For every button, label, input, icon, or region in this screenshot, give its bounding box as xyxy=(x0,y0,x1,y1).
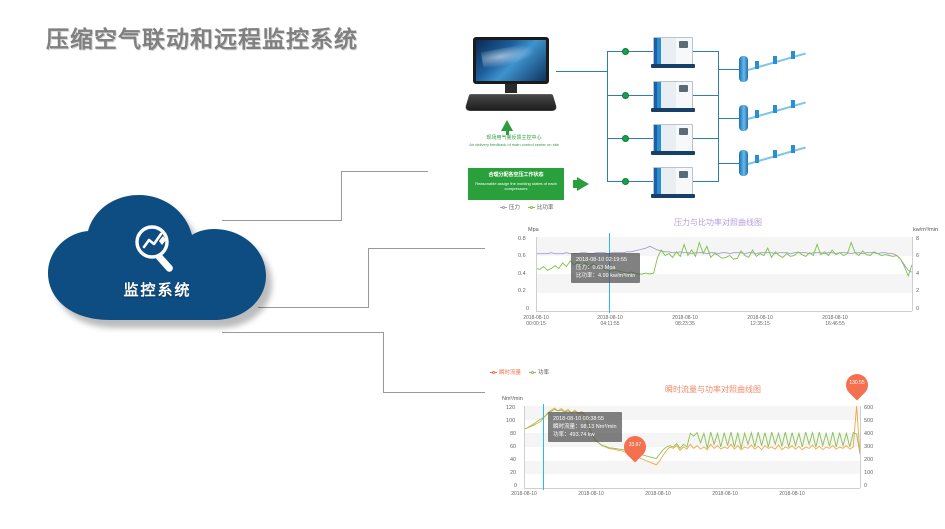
keyboard-icon xyxy=(464,94,557,111)
chart2-y2tick-3: 300 xyxy=(864,444,873,450)
drop-2a xyxy=(755,110,759,118)
working-state-en: Reasonable assign the working states of … xyxy=(468,181,564,192)
chart1-y2tick-4: 0 xyxy=(916,306,919,312)
monitor-screen xyxy=(473,37,549,84)
monitor-icon xyxy=(467,37,555,115)
chart1-tooltip-row-0: 压力：0.63 Mpa xyxy=(576,264,635,272)
chart1-xtick-2: 2018-08-10 08:23:35 xyxy=(659,315,711,327)
chart2-xtick-0: 2018-08-10 xyxy=(496,491,552,497)
chart2-ytick-2: 80 xyxy=(510,431,516,437)
monitor-stand xyxy=(505,84,517,93)
chart2-y-axis-unit: Nm³/min xyxy=(502,396,523,402)
chart1-y2tick-1: 6 xyxy=(916,253,919,259)
chart2-ytick-6: 0 xyxy=(514,483,517,489)
chart1-xtick-0: 2018-08-10 00:00:15 xyxy=(510,315,562,327)
wire-branch-2 xyxy=(607,95,658,96)
slide-canvas: 压缩空气联动和远程监控系统 监控系统 现场用气量反馈主 xyxy=(0,0,945,529)
node-indicator-3 xyxy=(622,135,629,142)
air-tank-1 xyxy=(739,56,748,82)
wire-to-tank-2 xyxy=(718,118,740,119)
chart1-legend: 压力 比功率 xyxy=(500,203,554,211)
chart2-ytick-0: 120 xyxy=(506,405,515,411)
legend-label-power: 功率 xyxy=(538,368,549,376)
connector-1-vertical xyxy=(341,171,342,221)
wire-out-2 xyxy=(693,95,719,96)
legend-item-power[interactable]: 功率 xyxy=(529,368,549,376)
wire-bus-vertical xyxy=(607,51,608,181)
chart2-x-axis xyxy=(524,488,860,489)
chart1-xtick-1: 2018-08-10 04:11:55 xyxy=(584,315,636,327)
chart2-tooltip-row-0: 瞬时流量：98.13 Nm³/min xyxy=(553,423,617,431)
legend-swatch-pressure xyxy=(500,207,507,208)
compressor-3 xyxy=(653,124,693,156)
drop-2c xyxy=(791,100,795,108)
node-indicator-1 xyxy=(622,48,629,55)
compressor-4 xyxy=(653,167,693,199)
monitor-caption-en: Air delivery feedback of main control ce… xyxy=(459,142,569,148)
chart1-xtick-4: 2018-08-10 16:46:55 xyxy=(809,315,861,327)
chart1-y2tick-3: 2 xyxy=(916,288,919,294)
chart1-ytick-0: 0.8 xyxy=(518,236,526,242)
chart2-y2tick-4: 200 xyxy=(864,457,873,463)
chart2-ytick-1: 100 xyxy=(506,418,515,424)
wire-monitor-to-bus xyxy=(556,71,608,72)
chart2-legend: 瞬时流量 功率 xyxy=(490,368,549,376)
wire-branch-1 xyxy=(607,51,658,52)
node-indicator-4 xyxy=(622,178,629,185)
chart2-tooltip: 2018-08-10 00:38:55 瞬时流量：98.13 Nm³/min 功… xyxy=(548,412,622,442)
chart2-y2tick-1: 500 xyxy=(864,418,873,424)
chart1-y2-axis xyxy=(912,237,913,311)
chart1-tooltip-time: 2018-08-10 02:19:55 xyxy=(576,256,635,264)
wire-branch-3 xyxy=(607,138,658,139)
chart2-ytick-5: 20 xyxy=(510,470,516,476)
drop-1b xyxy=(773,56,777,64)
connector-1-horizontal-right xyxy=(341,171,428,172)
chart1-xtick-3-time: 12:35:15 xyxy=(734,321,786,327)
wire-out-3 xyxy=(693,138,719,139)
air-tank-2 xyxy=(739,105,748,131)
legend-swatch-specific-power xyxy=(528,207,535,208)
chart-flow-power: 瞬时流量 功率 瞬时流量与功率对照曲线图 Nm³/min 120 100 80 … xyxy=(488,368,938,529)
chart2-tooltip-time: 2018-08-10 00:38:55 xyxy=(553,415,617,423)
chart1-y2-axis-unit: kw/m³/min xyxy=(913,227,938,233)
wire-out-1 xyxy=(693,51,719,52)
legend-swatch-power xyxy=(529,372,536,373)
legend-item-flow[interactable]: 瞬时流量 xyxy=(490,368,521,376)
drop-1c xyxy=(791,51,795,59)
legend-label-specific-power: 比功率 xyxy=(537,203,554,211)
compressor-2 xyxy=(653,81,693,113)
drop-3c xyxy=(791,145,795,153)
chart1-xtick-0-time: 00:00:15 xyxy=(510,321,562,327)
chart1-y-axis xyxy=(536,237,537,311)
working-state-zh: 合理分配各空压工作状态 xyxy=(468,172,564,179)
chart1-x-axis xyxy=(536,311,912,312)
chart1-ytick-1: 0.6 xyxy=(518,253,526,259)
chart1-y-axis-unit: Mpa xyxy=(528,227,539,233)
working-state-callout: 合理分配各空压工作状态 Reasonable assign the workin… xyxy=(468,168,564,200)
chart1-xtick-1-time: 04:11:55 xyxy=(584,321,636,327)
chart1-y2tick-2: 4 xyxy=(916,271,919,277)
connector-3-horizontal-right xyxy=(383,392,485,393)
wire-to-tank-3 xyxy=(718,163,740,164)
chart2-y2tick-0: 600 xyxy=(864,405,873,411)
chart2-y2-axis xyxy=(860,406,861,488)
cloud-label: 监控系统 xyxy=(40,279,275,300)
chart1-title: 压力与比功率对照曲线图 xyxy=(498,217,938,228)
legend-label-flow: 瞬时流量 xyxy=(499,368,521,376)
chart2-xtick-2: 2018-08-10 xyxy=(630,491,686,497)
chart1-y2tick-0: 8 xyxy=(916,236,919,242)
wire-branch-4 xyxy=(607,181,658,182)
chart1-ytick-4: 0 xyxy=(526,306,529,312)
chart2-ytick-3: 60 xyxy=(510,444,516,450)
arrow-right-icon xyxy=(577,177,589,191)
chart1-ytick-3: 0.2 xyxy=(518,288,526,294)
wire-to-tank-1 xyxy=(718,69,740,70)
chart1-tooltip: 2018-08-10 02:19:55 压力：0.63 Mpa 比功率：4.99… xyxy=(571,253,640,283)
connector-2-vertical xyxy=(368,248,369,308)
drop-1a xyxy=(755,61,759,69)
legend-swatch-flow xyxy=(490,372,497,373)
chart1-ytick-2: 0.4 xyxy=(518,271,526,277)
connector-3-vertical xyxy=(383,332,384,392)
monitor-caption-zh: 现场用气量反馈主控中心 xyxy=(459,135,569,142)
pin-label-max: 130.55 xyxy=(846,380,868,386)
chart2-tooltip-row-1: 功率：493.74 kw xyxy=(553,431,617,439)
system-architecture-diagram: 现场用气量反馈主控中心 Air delivery feedback of mai… xyxy=(455,22,935,207)
drop-3b xyxy=(773,150,777,158)
legend-label-pressure: 压力 xyxy=(509,203,520,211)
chart-pressure-power: 压力 比功率 压力与比功率对照曲线图 Mpa kw/m³/min 0.8 0.6… xyxy=(498,203,938,335)
drop-3a xyxy=(755,155,759,163)
chart2-ytick-4: 40 xyxy=(510,457,516,463)
chart2-y2tick-5: 100 xyxy=(864,470,873,476)
monitoring-system-cloud[interactable]: 监控系统 xyxy=(40,195,290,335)
drop-2b xyxy=(773,105,777,113)
chart2-xtick-3: 2018-08-10 xyxy=(697,491,753,497)
pin-label-min: 33.87 xyxy=(624,442,646,448)
page-title: 压缩空气联动和远程监控系统 xyxy=(46,20,358,54)
chart1-xtick-2-time: 08:23:35 xyxy=(659,321,711,327)
chart1-xtick-4-time: 16:46:55 xyxy=(809,321,861,327)
legend-item-pressure[interactable]: 压力 xyxy=(500,203,520,211)
chart2-y-axis xyxy=(524,406,525,488)
compressor-1 xyxy=(653,37,693,69)
chart2-y2tick-2: 400 xyxy=(864,431,873,437)
legend-item-specific-power[interactable]: 比功率 xyxy=(528,203,554,211)
chart1-tooltip-row-1: 比功率：4.99 kw/m³/min xyxy=(576,272,635,280)
connector-2-horizontal-right xyxy=(368,248,485,249)
chart2-xtick-1: 2018-08-10 xyxy=(563,491,619,497)
chart2-y2tick-6: 0 xyxy=(864,483,867,489)
magnifier-chart-icon xyxy=(128,219,188,279)
chart2-cursor-line xyxy=(543,404,544,490)
wire-out-4 xyxy=(693,181,719,182)
chart2-xtick-4: 2018-08-10 xyxy=(764,491,820,497)
node-indicator-2 xyxy=(622,92,629,99)
air-tank-3 xyxy=(739,150,748,176)
chart1-xtick-3: 2018-08-10 12:35:15 xyxy=(734,315,786,327)
